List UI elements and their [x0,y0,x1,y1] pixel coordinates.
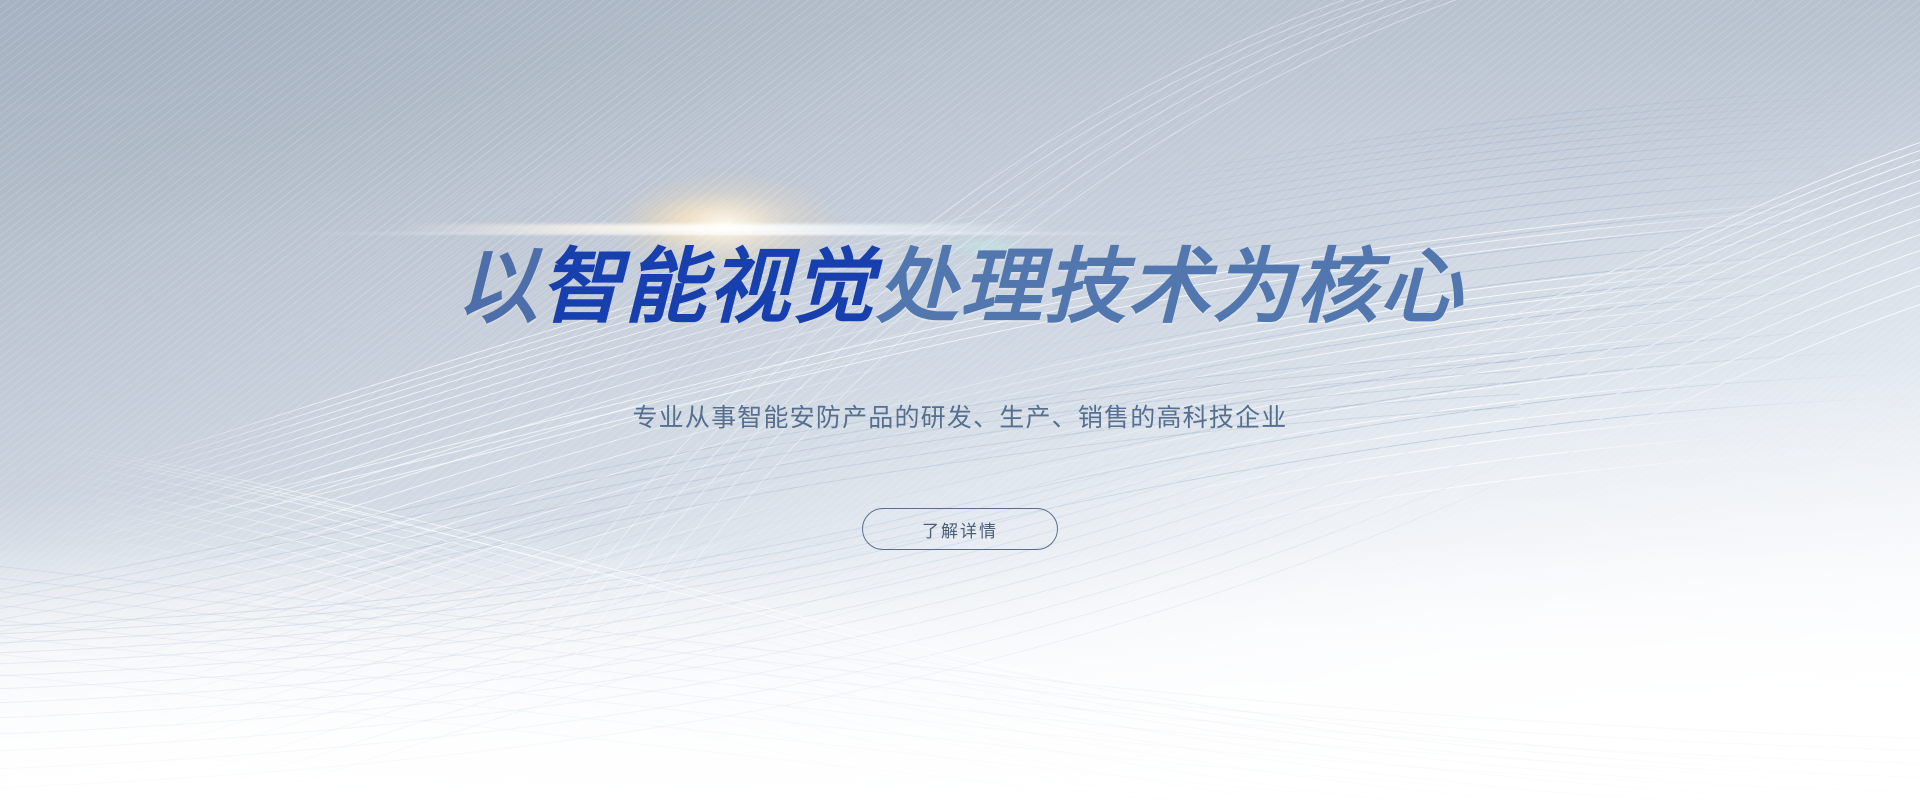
lens-flare-streak-wide [285,232,1185,235]
learn-more-button[interactable]: 了解详情 [862,508,1058,550]
headline-segment-tail: 处理技术为核心 [876,242,1464,333]
headline-segment-lead: 以 [456,242,540,333]
diagonal-hatch-texture-secondary [0,0,1100,430]
bottom-fade-overlay [0,540,1920,800]
page-title: 以智能视觉处理技术为核心 [0,247,1920,329]
cta-container: 了解详情 [0,508,1920,550]
page-subtitle: 专业从事智能安防产品的研发、生产、销售的高科技企业 [0,401,1920,436]
headline-segment-highlight: 智能视觉 [540,242,876,333]
hero-banner: 以智能视觉处理技术为核心 专业从事智能安防产品的研发、生产、销售的高科技企业 了… [0,0,1920,800]
